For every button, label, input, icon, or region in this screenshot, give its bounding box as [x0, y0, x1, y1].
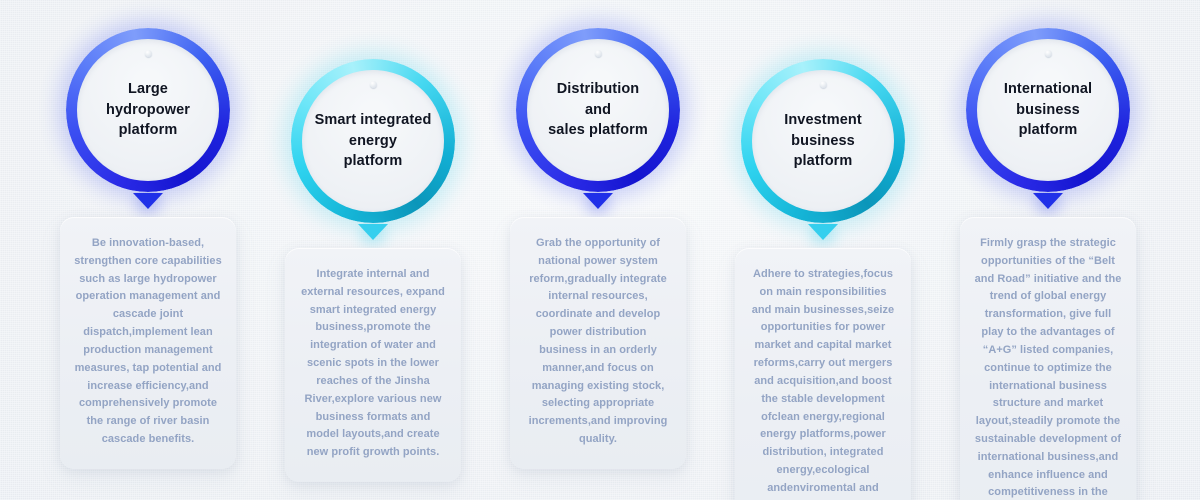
ring-international-business[interactable]: International business platform	[966, 28, 1130, 192]
ring-distribution-and-sales[interactable]: Distribution and sales platform	[516, 28, 680, 192]
description-text: Integrate internal and external resource…	[299, 266, 447, 462]
arrow-down-international-business	[1033, 193, 1063, 211]
description-text: Be innovation-based, strengthen core cap…	[74, 235, 222, 449]
platform-column-international-business: International business platform Firmly g…	[928, 0, 1168, 500]
chevron-down-triangle-icon	[1033, 193, 1063, 209]
ring-title: International business platform	[966, 28, 1130, 192]
chevron-down-triangle-icon	[358, 224, 388, 240]
ring-title: Large hydropower platform	[66, 28, 230, 192]
platform-column-large-hydropower: Large hydropower platform Be innovation-…	[28, 0, 268, 500]
chevron-down-triangle-icon	[808, 224, 838, 240]
infographic-canvas: Large hydropower platform Be innovation-…	[0, 0, 1200, 500]
platform-column-distribution-and-sales: Distribution and sales platform Grab the…	[478, 0, 718, 500]
ring-smart-integrated-energy[interactable]: Smart integrated energy platform	[291, 59, 455, 223]
description-card-international-business[interactable]: Firmly grasp the strategic opportunities…	[960, 217, 1136, 500]
arrow-down-large-hydropower	[133, 193, 163, 211]
ring-title: Smart integrated energy platform	[291, 59, 455, 223]
description-text: Grab the opportunity of national power s…	[524, 235, 672, 449]
description-card-smart-integrated-energy[interactable]: Integrate internal and external resource…	[285, 248, 461, 482]
arrow-down-smart-integrated-energy	[358, 224, 388, 242]
arrow-down-distribution-and-sales	[583, 193, 613, 211]
ring-title: Distribution and sales platform	[516, 28, 680, 192]
description-text: Adhere to strategies,focus on main respo…	[749, 266, 897, 500]
ring-investment-business[interactable]: Investment business platform	[741, 59, 905, 223]
description-text: Firmly grasp the strategic opportunities…	[974, 235, 1122, 500]
ring-title: Investment business platform	[741, 59, 905, 223]
description-card-distribution-and-sales[interactable]: Grab the opportunity of national power s…	[510, 217, 686, 469]
ring-large-hydropower[interactable]: Large hydropower platform	[66, 28, 230, 192]
description-card-investment-business[interactable]: Adhere to strategies,focus on main respo…	[735, 248, 911, 500]
platform-column-investment-business: Investment business platform Adhere to s…	[703, 0, 943, 500]
chevron-down-triangle-icon	[583, 193, 613, 209]
chevron-down-triangle-icon	[133, 193, 163, 209]
arrow-down-investment-business	[808, 224, 838, 242]
platform-column-smart-integrated-energy: Smart integrated energy platform Integra…	[253, 0, 493, 500]
description-card-large-hydropower[interactable]: Be innovation-based, strengthen core cap…	[60, 217, 236, 469]
